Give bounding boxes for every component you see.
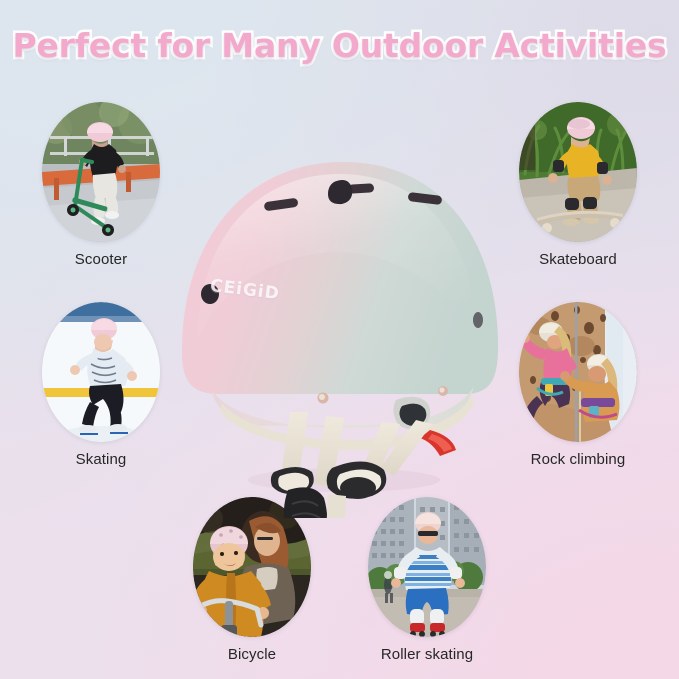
activity-thumbnail-scooter: [42, 102, 160, 242]
activity-card-roller-skating: Roller skating: [352, 497, 502, 663]
activity-thumbnail-rock-climbing: [519, 302, 637, 442]
activity-label-roller-skating: Roller skating: [352, 646, 502, 663]
activity-thumbnail-skateboard: [519, 102, 637, 242]
activity-card-scooter: Scooter: [26, 102, 176, 268]
title-container: Perfect for Many Outdoor Activities: [0, 26, 679, 65]
page-title: Perfect for Many Outdoor Activities: [13, 26, 667, 65]
activity-label-skating: Skating: [26, 451, 176, 468]
activity-thumbnail-skating: [42, 302, 160, 442]
product-helmet-image: CEiGiD: [168, 128, 512, 518]
activity-thumbnail-bicycle: [193, 497, 311, 637]
activity-label-scooter: Scooter: [26, 251, 176, 268]
activity-label-skateboard: Skateboard: [503, 251, 653, 268]
activity-card-skating: Skating: [26, 302, 176, 468]
activity-label-rock-climbing: Rock climbing: [503, 451, 653, 468]
activity-card-rock-climbing: Rock climbing: [503, 302, 653, 468]
product-infographic-poster: Perfect for Many Outdoor Activities: [0, 0, 679, 679]
activity-thumbnail-roller-skating: [368, 497, 486, 637]
activity-card-skateboard: Skateboard: [503, 102, 653, 268]
activity-label-bicycle: Bicycle: [177, 646, 327, 663]
activity-card-bicycle: Bicycle: [177, 497, 327, 663]
